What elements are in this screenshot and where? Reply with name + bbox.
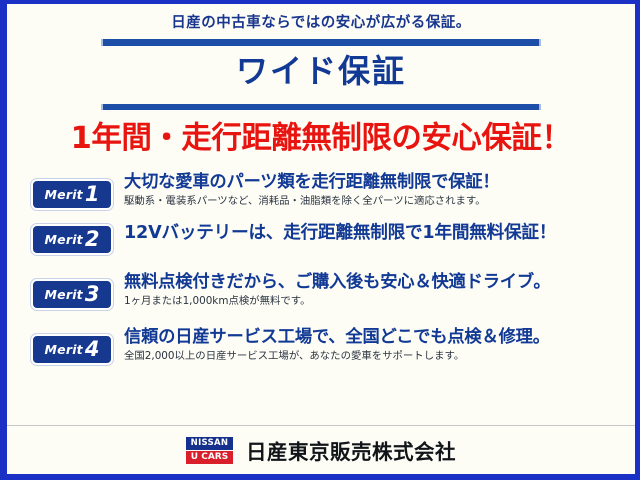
merit-badge-label-1: Merit — [45, 187, 83, 202]
merit-subtitle-1: 駆動系・電装系パーツなど、消耗品・油脂類を除く全パーツに適応されます。 — [124, 194, 499, 208]
merit-text-3: 無料点検付きだから、ご購入後も安心＆快適ドライブ。 1ヶ月または1,000km点… — [124, 271, 551, 308]
merit-text-4: 信頼の日産サービス工場で、全国どこでも点検＆修理。 全国2,000以上の日産サー… — [124, 326, 550, 363]
merit-title-1: 大切な愛車のパーツ類を走行距離無制限で保証！ — [124, 171, 499, 193]
merit-badge-label-4: Merit — [45, 342, 83, 357]
warranty-banner: 日産の中古車ならではの安心が広がる保証。 ワイド保証 1年間・走行距離無制限の安… — [0, 0, 640, 480]
merit-badge-1: Merit 1 — [31, 179, 113, 210]
banner-sheet: 日産の中古車ならではの安心が広がる保証。 ワイド保証 1年間・走行距離無制限の安… — [7, 4, 635, 474]
logo-ucars-text: U CARS — [186, 451, 233, 464]
merit-badge-3: Merit 3 — [31, 279, 113, 310]
merit-badge-4: Merit 4 — [31, 334, 113, 365]
page-title: ワイド保証 — [7, 55, 635, 87]
merit-badge-label-3: Merit — [45, 287, 83, 302]
merit-subtitle-3: 1ヶ月または1,000km点検が無料です。 — [124, 294, 551, 308]
kicker-text: 日産の中古車ならではの安心が広がる保証。 — [7, 11, 635, 32]
merit-item-3: Merit 3 無料点検付きだから、ご購入後も安心＆快適ドライブ。 1ヶ月または… — [31, 271, 621, 310]
merit-badge-number-4: 4 — [85, 339, 100, 360]
merit-list: Merit 1 大切な愛車のパーツ類を走行距離無制限で保証！ 駆動系・電装系パー… — [7, 159, 635, 426]
merit-title-3: 無料点検付きだから、ご購入後も安心＆快適ドライブ。 — [124, 271, 551, 293]
merit-badge-2: Merit 2 — [31, 224, 113, 255]
nissan-ucars-logo-icon: NISSAN U CARS — [186, 437, 233, 464]
merit-title-2: 12Vバッテリーは、走行距離無制限で1年間無料保証！ — [124, 222, 556, 245]
merit-item-1: Merit 1 大切な愛車のパーツ類を走行距離無制限で保証！ 駆動系・電装系パー… — [31, 171, 621, 210]
merit-text-2: 12Vバッテリーは、走行距離無制限で1年間無料保証！ — [124, 222, 556, 246]
merit-subtitle-4: 全国2,000以上の日産サービス工場が、あなたの愛車をサポートします。 — [124, 349, 550, 363]
footer: NISSAN U CARS 日産東京販売株式会社 — [7, 425, 635, 474]
merit-badge-number-3: 3 — [85, 284, 100, 305]
merit-badge-label-2: Merit — [45, 232, 83, 247]
merit-badge-number-1: 1 — [85, 184, 100, 205]
merit-item-2: Merit 2 12Vバッテリーは、走行距離無制限で1年間無料保証！ — [31, 222, 621, 255]
headline-text: 1年間・走行距離無制限の安心保証！ — [7, 124, 635, 155]
divider-bottom — [101, 104, 541, 110]
company-name: 日産東京販売株式会社 — [246, 435, 456, 465]
divider-top — [101, 39, 541, 46]
logo-nissan-text: NISSAN — [186, 437, 233, 450]
merit-badge-number-2: 2 — [85, 229, 100, 250]
merit-title-4: 信頼の日産サービス工場で、全国どこでも点検＆修理。 — [124, 326, 550, 348]
merit-text-1: 大切な愛車のパーツ類を走行距離無制限で保証！ 駆動系・電装系パーツなど、消耗品・… — [124, 171, 499, 208]
merit-item-4: Merit 4 信頼の日産サービス工場で、全国どこでも点検＆修理。 全国2,00… — [31, 326, 621, 365]
